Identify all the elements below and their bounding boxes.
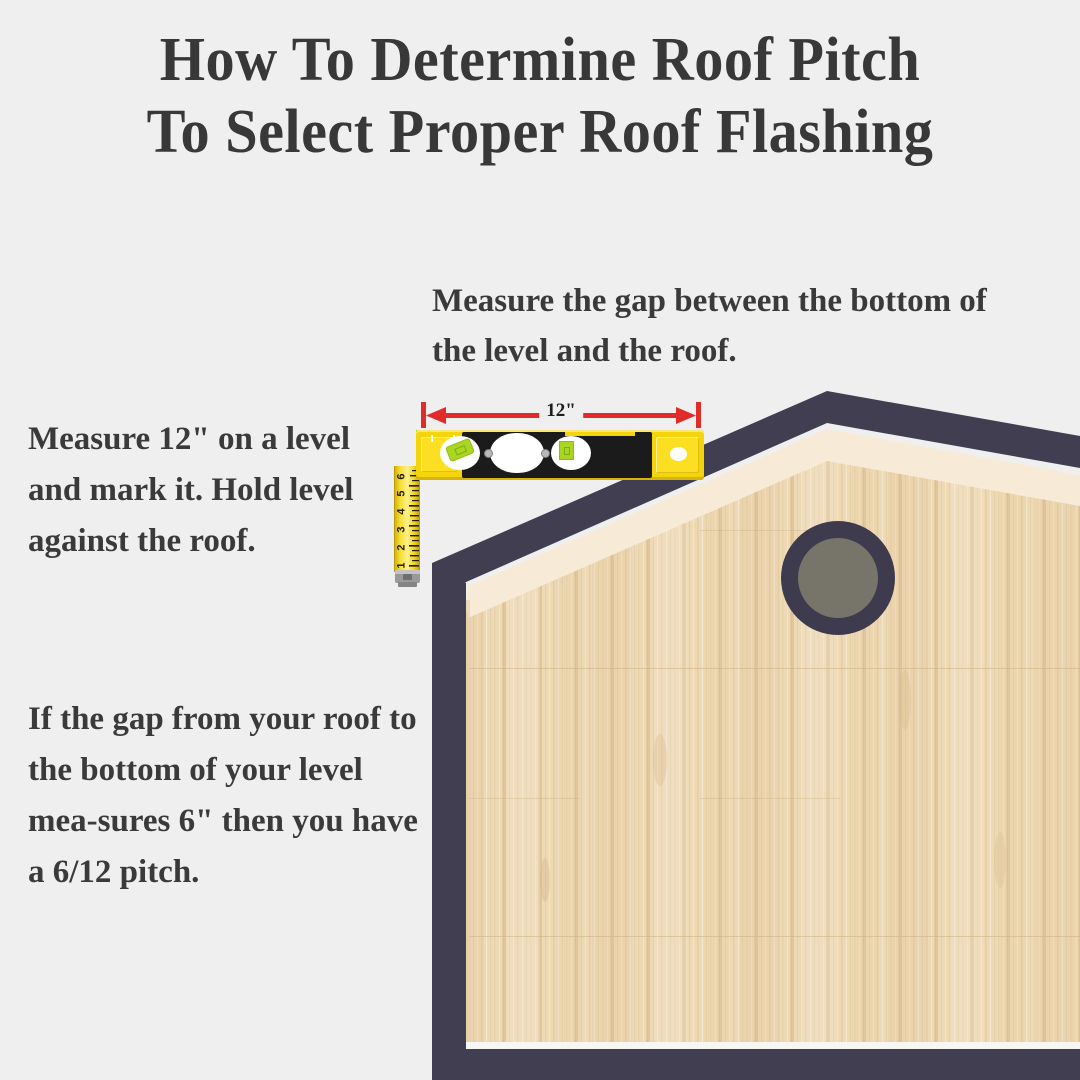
tape-measure: 1 2 3 4 5 6 [394, 466, 424, 590]
tape-mark-5: 5 [397, 487, 408, 501]
corner-board [432, 597, 470, 1049]
tape-mark-6: 6 [397, 470, 408, 484]
caption-measure-gap: Measure the gap between the bottom of th… [432, 276, 1004, 376]
torpedo-level [416, 430, 704, 480]
tape-mark-2: 2 [397, 541, 408, 555]
caption-pitch-result: If the gap from your roof to the bottom … [28, 694, 420, 898]
tape-mark-3: 3 [397, 523, 408, 537]
tape-mark-4: 4 [397, 505, 408, 519]
level-vial-right-liquid [559, 441, 574, 460]
level-vial-center-glass [490, 433, 544, 473]
caption-measure-12in-text: Measure 12" on a level and mark it. Hold… [28, 414, 388, 567]
caption-pitch-result-text: If the gap from your roof to the bottom … [28, 694, 420, 898]
infographic-canvas: How To Determine Roof Pitch To Select Pr… [0, 0, 1080, 1080]
caption-measure-12in: Measure 12" on a level and mark it. Hold… [28, 414, 388, 567]
caption-measure-gap-text: Measure the gap between the bottom of th… [432, 276, 1004, 376]
round-gable-window [781, 521, 895, 635]
level-panel-notch [565, 432, 635, 436]
tape-hook-icon [395, 570, 420, 587]
level-screw-left [484, 449, 493, 458]
dimension-arrow-12in: 12" [416, 400, 706, 430]
foundation [432, 1042, 1080, 1080]
dimension-label: 12" [539, 400, 583, 422]
level-hand-hole [670, 447, 687, 461]
level-screw-right [541, 449, 550, 458]
